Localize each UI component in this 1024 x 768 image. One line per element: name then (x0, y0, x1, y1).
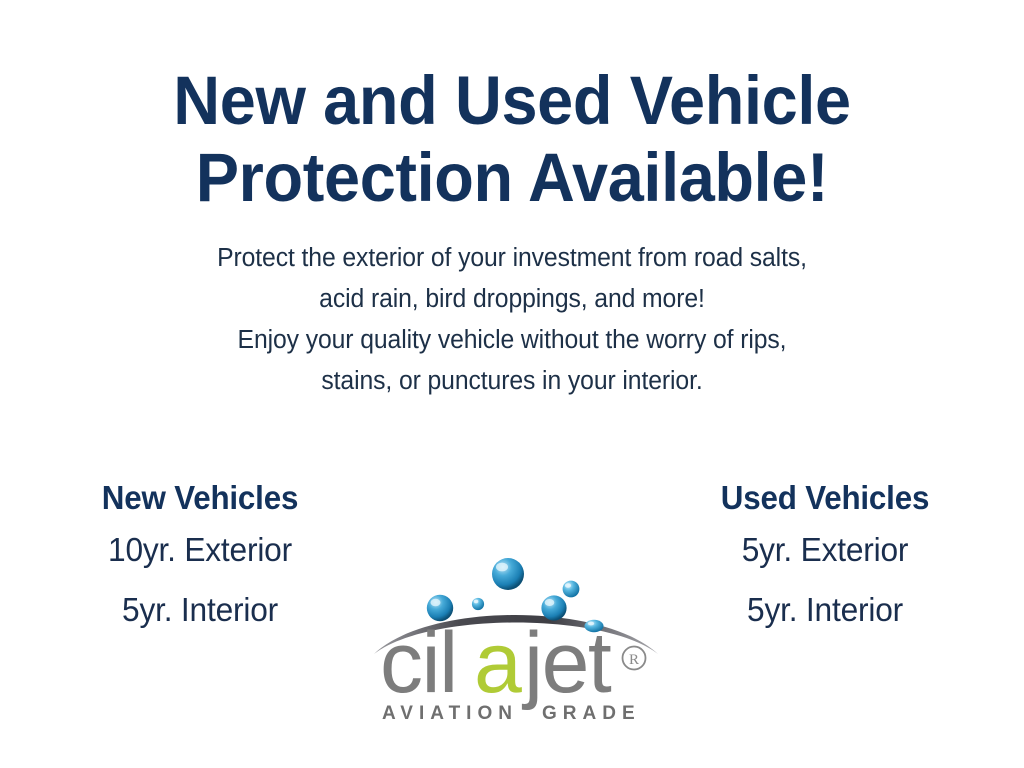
page-title: New and Used Vehicle Protection Availabl… (0, 62, 1024, 216)
subtitle-line-1: Protect the exterior of your investment … (15, 238, 1008, 279)
column-used-vehicles: Used Vehicles 5yr. Exterior 5yr. Interio… (660, 476, 990, 640)
subtitle-line-4: stains, or punctures in your interior. (15, 361, 1008, 402)
registered-trademark-icon: R (623, 647, 646, 670)
new-vehicles-interior-term: 5yr. Interior (42, 580, 359, 640)
svg-text:GRADE: GRADE (542, 703, 641, 724)
slide-canvas: New and Used Vehicle Protection Availabl… (0, 0, 1024, 768)
subtitle-line-3: Enjoy your quality vehicle without the w… (15, 320, 1008, 361)
cilajet-logo: cil a jet R AVIATION GRADE (366, 552, 666, 732)
svg-text:cil: cil (380, 615, 457, 711)
logo-wordmark: cil a jet (380, 615, 612, 711)
svg-text:R: R (629, 652, 639, 668)
used-vehicles-exterior-term: 5yr. Exterior (667, 520, 984, 580)
subtitle-paragraph: Protect the exterior of your investment … (0, 238, 1024, 402)
title-line-2: Protection Available! (31, 139, 994, 216)
svg-text:AVIATION: AVIATION (382, 703, 518, 724)
svg-text:a: a (474, 615, 522, 711)
logo-tagline: AVIATION GRADE (382, 703, 641, 724)
used-vehicles-interior-term: 5yr. Interior (667, 580, 984, 640)
svg-text:jet: jet (521, 615, 612, 711)
new-vehicles-exterior-term: 10yr. Exterior (42, 520, 359, 580)
column-new-vehicles: New Vehicles 10yr. Exterior 5yr. Interio… (35, 476, 365, 640)
title-line-1: New and Used Vehicle (31, 62, 994, 139)
column-heading-used-vehicles: Used Vehicles (668, 476, 982, 520)
subtitle-line-2: acid rain, bird droppings, and more! (15, 279, 1008, 320)
column-heading-new-vehicles: New Vehicles (43, 476, 357, 520)
